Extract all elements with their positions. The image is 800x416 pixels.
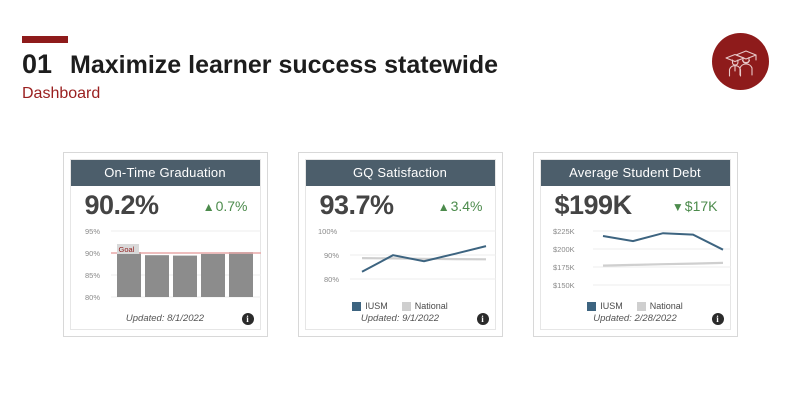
metric-row: 90.2% ▲0.7% (71, 186, 260, 223)
card-footer: Updated: 8/1/2022 i (71, 311, 260, 329)
line-chart-student-debt: $225K $200K $175K $150K (545, 223, 724, 303)
page-title: Maximize learner success statewide (70, 51, 498, 80)
svg-text:$150K: $150K (553, 281, 575, 290)
card-on-time-graduation[interactable]: On-Time Graduation 90.2% ▲0.7% 95% 90% (63, 152, 268, 337)
card-title: Average Student Debt (541, 160, 730, 186)
page-header: 01 Maximize learner success statewide Da… (0, 0, 800, 120)
delta-arrow-icon: ▲ (438, 200, 450, 214)
svg-text:90%: 90% (324, 251, 339, 260)
metric-delta: ▲3.4% (438, 198, 483, 214)
svg-text:85%: 85% (85, 271, 100, 280)
card-footer: Updated: 2/28/2022 i (541, 311, 730, 329)
dashboard-cards: On-Time Graduation 90.2% ▲0.7% 95% 90% (0, 152, 800, 337)
card-inner: Average Student Debt $199K ▼$17K $225K $… (540, 159, 731, 330)
svg-text:90%: 90% (85, 249, 100, 258)
info-icon[interactable]: i (477, 313, 489, 325)
updated-text: Updated: 2/28/2022 (593, 313, 676, 324)
svg-text:$200K: $200K (553, 245, 575, 254)
svg-text:$175K: $175K (553, 263, 575, 272)
metric-delta: ▼$17K (672, 198, 718, 214)
card-average-student-debt[interactable]: Average Student Debt $199K ▼$17K $225K $… (533, 152, 738, 337)
section-number: 01 (22, 49, 52, 80)
delta-value: 3.4% (451, 198, 483, 214)
card-footer: Updated: 9/1/2022 i (306, 311, 495, 329)
metric-row: 93.7% ▲3.4% (306, 186, 495, 223)
info-icon[interactable]: i (242, 313, 254, 325)
metric-value: 90.2% (85, 190, 159, 221)
info-icon[interactable]: i (712, 313, 724, 325)
bar-chart-graduation: 95% 90% 85% 80% Goal (75, 223, 254, 311)
delta-arrow-icon: ▼ (672, 200, 684, 214)
card-gq-satisfaction[interactable]: GQ Satisfaction 93.7% ▲3.4% 100% 90% 80% (298, 152, 503, 337)
delta-arrow-icon: ▲ (203, 200, 215, 214)
svg-text:$225K: $225K (553, 227, 575, 236)
updated-text: Updated: 8/1/2022 (126, 313, 204, 324)
title-row: 01 Maximize learner success statewide (22, 49, 498, 80)
card-title: GQ Satisfaction (306, 160, 495, 186)
metric-value: 93.7% (320, 190, 394, 221)
card-title: On-Time Graduation (71, 160, 260, 186)
svg-text:80%: 80% (324, 275, 339, 284)
card-inner: GQ Satisfaction 93.7% ▲3.4% 100% 90% 80% (305, 159, 496, 330)
accent-bar (22, 36, 68, 43)
card-inner: On-Time Graduation 90.2% ▲0.7% 95% 90% (70, 159, 261, 330)
svg-text:80%: 80% (85, 293, 100, 302)
graduates-icon (712, 33, 769, 90)
svg-text:Goal: Goal (118, 245, 134, 254)
metric-row: $199K ▼$17K (541, 186, 730, 223)
metric-delta: ▲0.7% (203, 198, 248, 214)
metric-value: $199K (555, 190, 632, 221)
delta-value: $17K (685, 198, 718, 214)
page-subtitle: Dashboard (22, 85, 100, 103)
updated-text: Updated: 9/1/2022 (361, 313, 439, 324)
svg-text:95%: 95% (85, 227, 100, 236)
line-chart-gq-satisfaction: 100% 90% 80% (310, 223, 489, 303)
delta-value: 0.7% (216, 198, 248, 214)
svg-text:100%: 100% (318, 227, 338, 236)
